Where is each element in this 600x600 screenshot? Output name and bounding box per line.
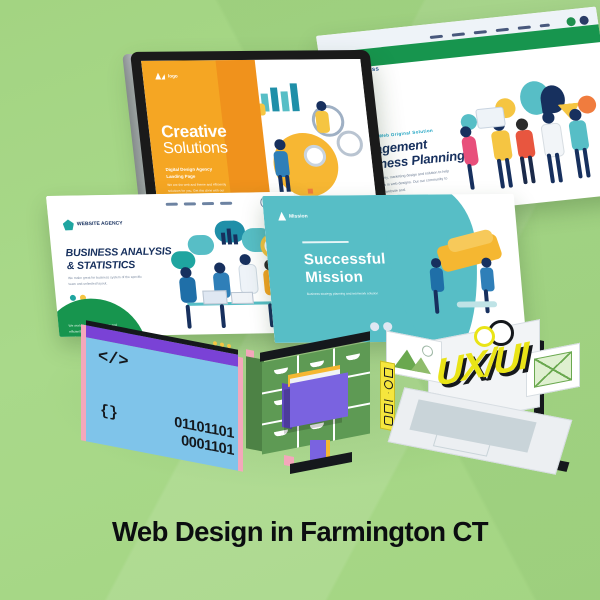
slide-subtitle: Business strategy planning and teamwork …: [307, 290, 382, 297]
tool-palette-icon[interactable]: [380, 361, 395, 432]
slide-title-line1: Successful: [303, 251, 386, 269]
people-illustration: [445, 66, 600, 211]
logo-text: Mission: [289, 213, 308, 219]
slide-logo: WEBSITE AGENCY: [62, 219, 123, 231]
nav-dot-primary: [579, 15, 589, 25]
slide-title-line2: Mission: [305, 268, 388, 286]
page-title: Web Design in Farmington CT: [0, 516, 600, 548]
slide-title: Successful Mission: [303, 251, 388, 287]
slide-body-text: We make great for business system of the…: [68, 274, 148, 288]
logo-mark-icon: [62, 219, 74, 230]
curly-braces-icon: {}: [100, 402, 118, 423]
nav-dot-secondary: [566, 17, 576, 27]
mission-illustration: [416, 228, 526, 332]
slide-logo: Mission: [277, 212, 308, 221]
creative-logo: logo: [154, 72, 178, 79]
uxui-illustration[interactable]: UX/UI: [378, 318, 578, 490]
creative-title-line2: Solutions: [162, 140, 228, 158]
logo-text: logo: [168, 73, 178, 78]
window-right-edge: [238, 357, 243, 472]
logo-mark-icon: [154, 73, 165, 80]
creative-subtitle: Digital Design Agency Landing Page: [165, 166, 213, 180]
wireframe-icon: [526, 343, 580, 397]
browser-bar: [46, 192, 295, 216]
logo-text: WEBSITE AGENCY: [77, 221, 123, 227]
logo-mark-icon: [277, 212, 286, 221]
slide-title: BUSINESS ANALYSIS & STATISTICS: [65, 245, 173, 272]
filing-cabinet-illustration[interactable]: [252, 344, 370, 452]
poster-canvas: Business Creating for Web Original Solut…: [0, 0, 600, 600]
